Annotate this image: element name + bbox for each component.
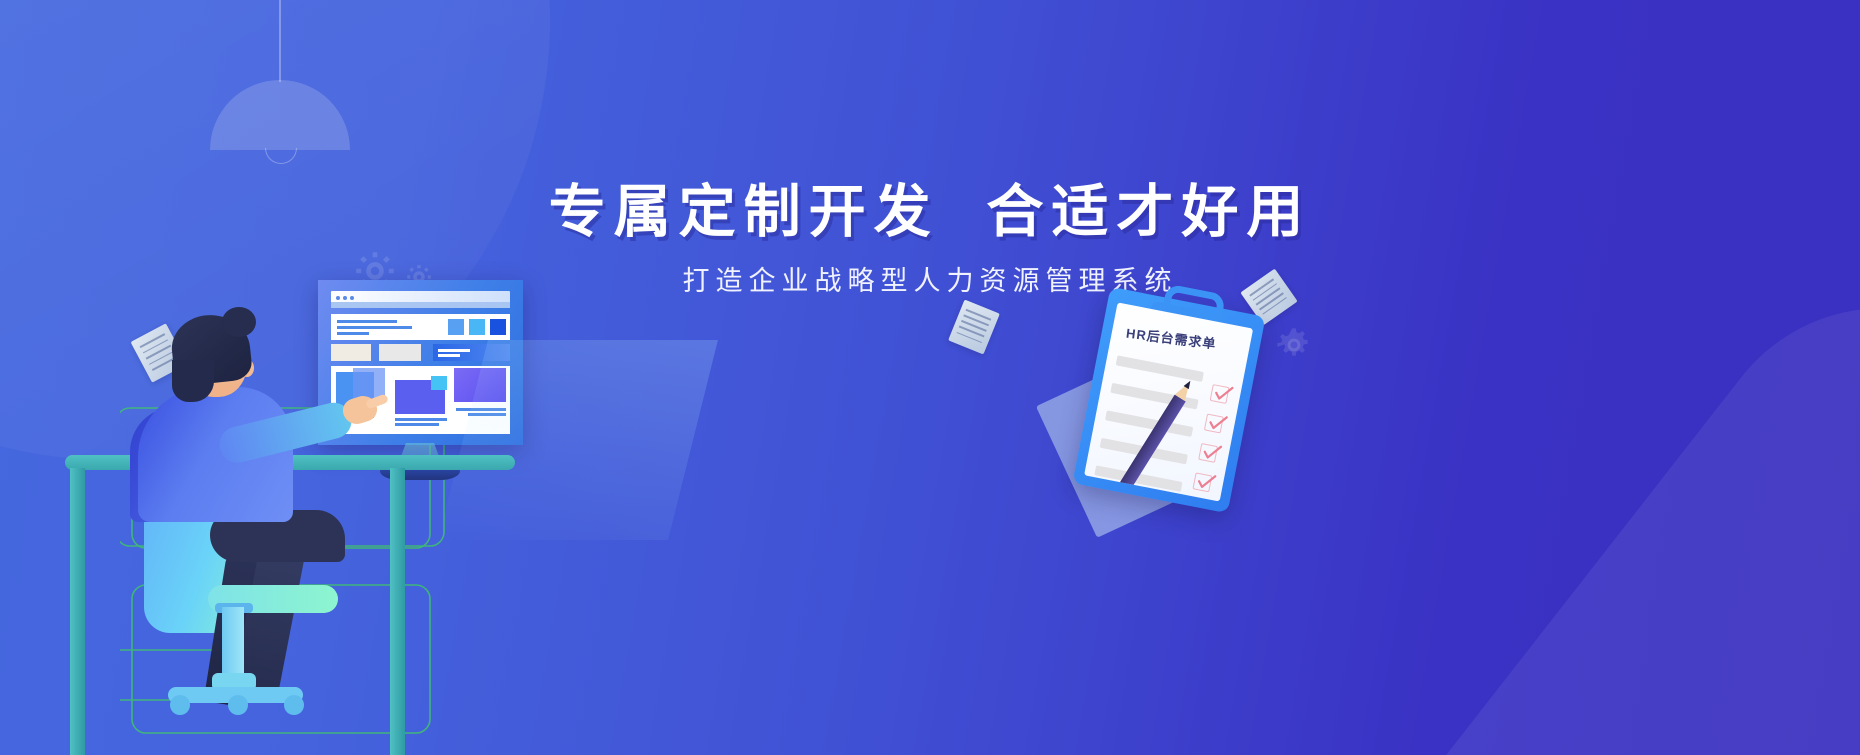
person-hair-side [172,360,214,402]
person-hair-bun [222,307,256,337]
chair-wheel [228,695,248,715]
browser-chrome-bar [331,291,510,308]
mock-chip-row [331,344,510,361]
checkbox-checked[interactable] [1192,472,1212,492]
mock-header-row [331,314,510,340]
address-bar [331,302,510,308]
mock-tile-2 [469,319,485,335]
mock-tile-3 [490,319,506,335]
clipboard-title: HR后台需求单 [1125,323,1240,356]
checklist-row-line [1116,355,1204,382]
checkbox-checked[interactable] [1204,414,1224,434]
chair-post [222,607,244,677]
checkbox-checked[interactable] [1198,443,1218,463]
hero-banner: 专属定制开发 合适才好用 打造企业战略型人力资源管理系统 [0,0,1860,755]
background-diagonal-shape [1298,235,1860,755]
mock-chip-1 [331,344,371,361]
lamp-cord [279,0,281,82]
developer-at-desk-illustration [60,255,660,755]
mock-tile-1 [448,319,464,335]
checklist-row-line [1105,410,1193,437]
chair-wheel [284,695,304,715]
floating-document-icon-2 [948,299,1000,354]
hanging-lamp-icon [210,0,350,160]
mock-chip-3 [433,344,510,361]
desk-leg-left [70,468,85,755]
window-dots-icon [336,296,354,300]
lamp-shade [210,80,350,150]
desk-leg-right [390,468,405,755]
checkbox-checked[interactable] [1210,384,1230,404]
mock-chip-2 [379,344,421,361]
chair-wheel [170,695,190,715]
